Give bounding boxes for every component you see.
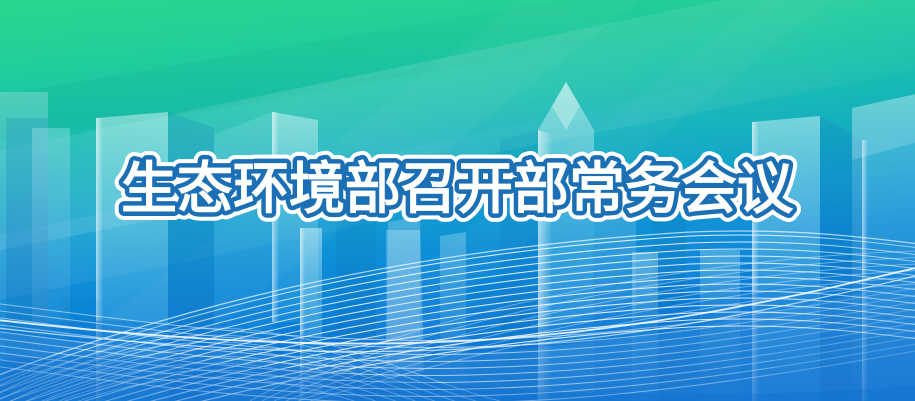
flowing-wave-lines (0, 0, 915, 401)
banner-root: 生态环境部召开部常务会议 生态环境部召开部常务会议 生态环境部召开部常务会议 (0, 0, 915, 401)
